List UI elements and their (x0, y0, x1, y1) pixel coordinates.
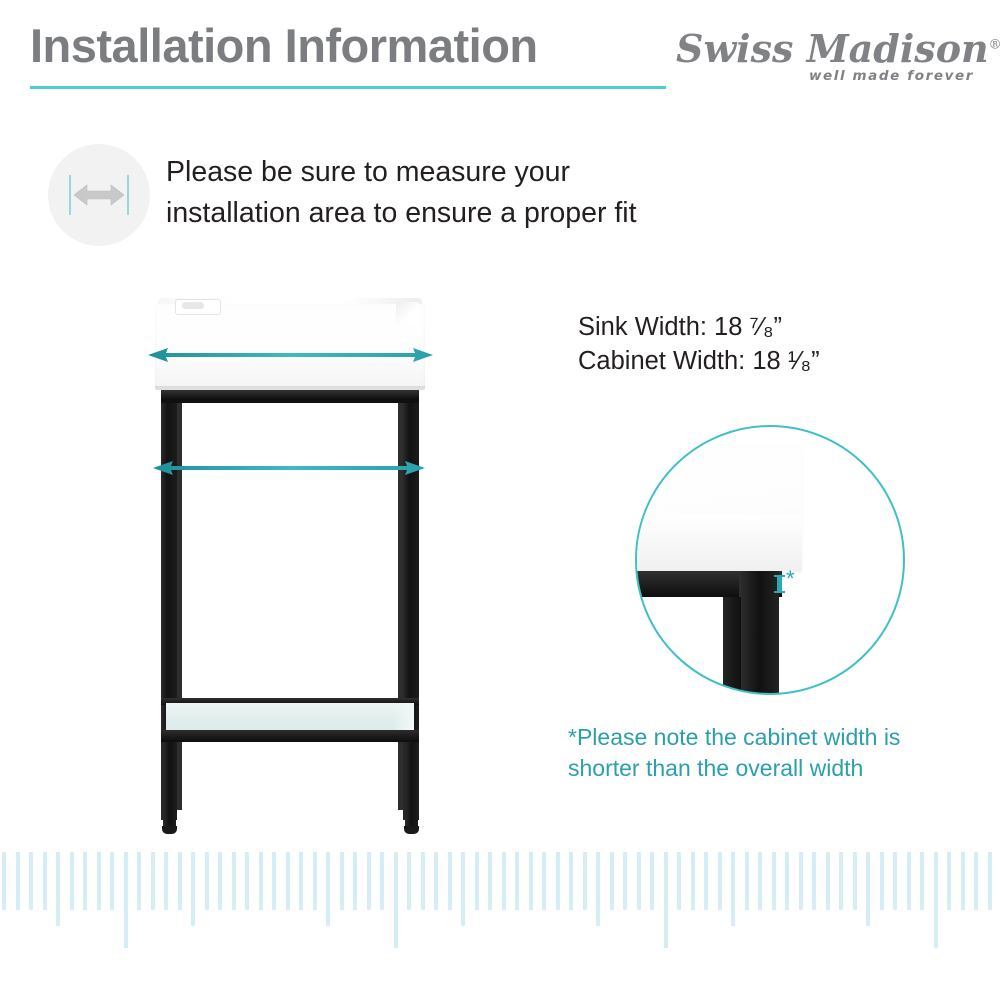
ruler-tick (394, 852, 398, 948)
ruler-tick (515, 852, 519, 910)
ruler-tick (583, 852, 587, 910)
ruler-tick (880, 852, 884, 910)
cabinet-width-arrow (153, 460, 425, 476)
detail-sink-face (635, 515, 802, 571)
product-illustration (120, 290, 460, 850)
detail-frame-post (739, 571, 779, 695)
ruler-tick (218, 852, 222, 910)
detail-dimension-cap-top-icon (774, 575, 785, 577)
ruler-decoration (0, 852, 1000, 982)
ruler-tick (70, 852, 74, 910)
ruler-tick (407, 852, 411, 910)
ruler-tick (110, 852, 114, 910)
ruler-tick (758, 852, 762, 910)
ruler-tick (151, 852, 155, 910)
ruler-tick (745, 852, 749, 910)
ruler-tick (799, 852, 803, 910)
ruler-tick (43, 852, 47, 910)
double-arrow-measure-icon (74, 182, 124, 208)
ruler-tick (2, 852, 6, 910)
ruler-tick (434, 852, 438, 910)
frame-post-left-inner (177, 390, 182, 810)
ruler-tick (259, 852, 263, 910)
ruler-tick (272, 852, 276, 910)
page-title: Installation Information (30, 22, 538, 69)
frame-leg-left (163, 742, 176, 830)
frosted-glass-shelf (166, 703, 414, 732)
ruler-tick (29, 852, 33, 910)
sink-right-corner (396, 302, 420, 324)
spec-cabinet-width: Cabinet Width: 18 ¹⁄₈” (578, 344, 978, 378)
ruler-tick (677, 852, 681, 910)
ruler-tick (286, 852, 290, 910)
ruler-tick (974, 852, 978, 910)
logo-wordmark-text: Swiss Madison (676, 26, 989, 71)
ruler-tick (502, 852, 506, 910)
shelf-lower-rail (161, 730, 419, 742)
ruler-tick (326, 852, 330, 926)
ruler-tick (16, 852, 20, 910)
installation-information-page: Installation Information Swiss Madison® … (0, 0, 1000, 1000)
ruler-tick (664, 852, 668, 948)
ruler-tick (637, 852, 641, 910)
spec-measurements: Sink Width: 18 ⁷⁄₈” Cabinet Width: 18 ¹⁄… (578, 310, 978, 378)
ruler-tick (893, 852, 897, 910)
ruler-tick (97, 852, 101, 910)
ruler-tick (826, 852, 830, 910)
ruler-tick (961, 852, 965, 910)
logo-wordmark: Swiss Madison® (676, 26, 976, 71)
ruler-tick (988, 852, 992, 910)
ruler-tick (839, 852, 843, 910)
ruler-tick (947, 852, 951, 910)
ruler-tick (137, 852, 141, 910)
cabinet-width-note: *Please note the cabinet width is shorte… (568, 722, 948, 784)
frame-foot-left (162, 826, 177, 834)
measure-notice-text: Please be sure to measure your installat… (166, 152, 711, 234)
measure-badge (48, 144, 150, 246)
ruler-tick (205, 852, 209, 910)
sink-width-arrow (148, 347, 433, 363)
ruler-tick (542, 852, 546, 910)
ruler-tick (610, 852, 614, 910)
ruler-tick (907, 852, 911, 910)
badge-tick-left-icon (69, 175, 71, 215)
header: Installation Information Swiss Madison® … (0, 0, 1000, 110)
ruler-tick (623, 852, 627, 910)
ruler-tick (772, 852, 776, 910)
logo-tagline: well made forever (676, 68, 976, 84)
ruler-tick (313, 852, 317, 910)
ruler-tick (934, 852, 938, 948)
glass-shelf-edge (382, 703, 414, 731)
ruler-tick (529, 852, 533, 910)
ruler-tick (704, 852, 708, 910)
ruler-tick (569, 852, 573, 910)
ruler-tick (124, 852, 128, 948)
detail-asterisk-marker: * (786, 568, 795, 590)
ruler-tick (650, 852, 654, 910)
frame-leg-right (405, 742, 418, 830)
brand-logo: Swiss Madison® well made forever (676, 26, 976, 88)
ruler-tick (785, 852, 789, 910)
ruler-tick (718, 852, 722, 910)
ruler-tick (245, 852, 249, 910)
ruler-tick (380, 852, 384, 910)
corner-detail-magnifier: * (635, 425, 905, 695)
ruler-tick (556, 852, 560, 910)
badge-tick-right-icon (127, 175, 129, 215)
title-underline-rule (30, 86, 666, 89)
ruler-tick (691, 852, 695, 910)
ruler-tick (812, 852, 816, 910)
ruler-tick (232, 852, 236, 910)
faucet-hole-icon (182, 302, 204, 309)
ruler-tick (340, 852, 344, 910)
ruler-tick (448, 852, 452, 910)
ruler-tick (461, 852, 465, 926)
registered-trademark-icon: ® (989, 37, 1000, 52)
ruler-tick (191, 852, 195, 926)
frame-post-right-inner (398, 390, 403, 810)
detail-frame-post-inner (723, 597, 741, 695)
ruler-tick (731, 852, 735, 926)
detail-dimension-cap-bottom-icon (774, 591, 785, 593)
ruler-tick (178, 852, 182, 910)
ruler-tick (367, 852, 371, 910)
frame-foot-right (404, 826, 419, 834)
ruler-tick (920, 852, 924, 910)
frame-top-rail (161, 390, 419, 403)
ruler-tick (866, 852, 870, 926)
ruler-tick (353, 852, 357, 910)
ruler-tick (299, 852, 303, 910)
ruler-tick (83, 852, 87, 910)
measure-notice: Please be sure to measure your installat… (48, 142, 708, 252)
ruler-tick (56, 852, 60, 926)
ruler-tick (475, 852, 479, 910)
spec-sink-width: Sink Width: 18 ⁷⁄₈” (578, 310, 978, 344)
ruler-tick (421, 852, 425, 910)
ruler-tick (596, 852, 600, 926)
ruler-tick (164, 852, 168, 910)
ruler-tick (853, 852, 857, 910)
ruler-tick (488, 852, 492, 910)
